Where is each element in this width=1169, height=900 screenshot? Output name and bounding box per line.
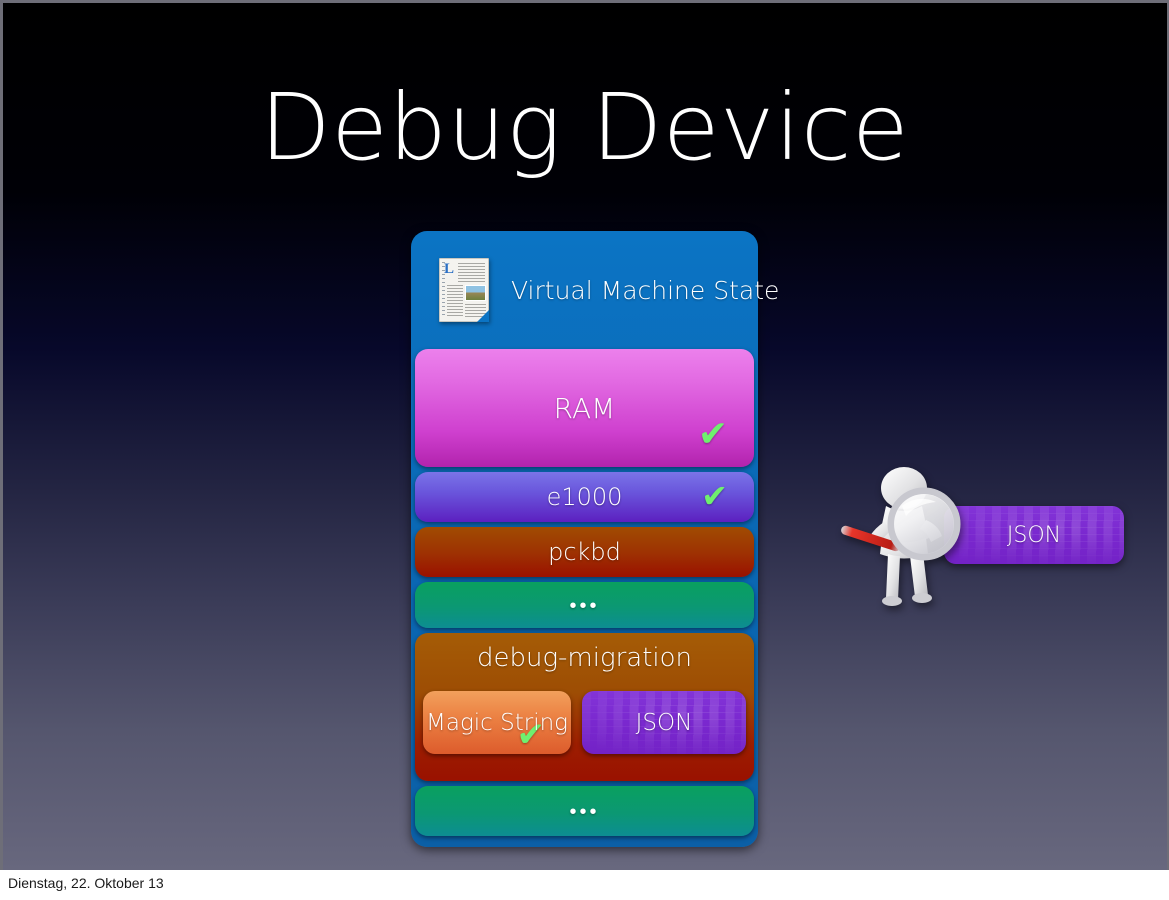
debug-migration-children: Magic String ✔ JSON bbox=[423, 691, 746, 754]
debug-migration-label: debug-migration bbox=[415, 643, 754, 673]
json-badge-label: JSON bbox=[1007, 523, 1061, 548]
stack-row-ram-label: RAM bbox=[554, 392, 616, 425]
slide-canvas: Debug Device L Virtual Machine State bbox=[0, 0, 1169, 870]
stack-row-ram[interactable]: RAM ✔ bbox=[415, 349, 754, 467]
virtual-machine-state-stack: L Virtual Machine State RAM ✔ e1000 ✔ bbox=[411, 231, 758, 847]
json-badge[interactable]: JSON bbox=[944, 506, 1124, 564]
inspector-group: JSON bbox=[838, 462, 1128, 607]
footer-date: Dienstag, 22. Oktober 13 bbox=[8, 875, 164, 891]
stack-row-pckbd-label: pckbd bbox=[548, 538, 621, 566]
chip-json-label: JSON bbox=[636, 710, 693, 736]
check-icon-ram: ✔ bbox=[698, 417, 728, 453]
vm-state-header-label: Virtual Machine State bbox=[511, 276, 779, 305]
slide-footer: Dienstag, 22. Oktober 13 bbox=[0, 870, 1169, 900]
page-title: Debug Device bbox=[0, 82, 1169, 174]
document-icon: L bbox=[439, 258, 489, 322]
stack-row-ellipsis-lower-label: ••• bbox=[569, 799, 599, 824]
stack-row-debug-migration[interactable]: debug-migration Magic String ✔ JSON bbox=[415, 633, 754, 781]
vm-state-header: L Virtual Machine State bbox=[411, 231, 758, 349]
stack-row-e1000[interactable]: e1000 ✔ bbox=[415, 472, 754, 522]
slide-top-border bbox=[0, 0, 1169, 3]
stack-row-ellipsis-upper-label: ••• bbox=[569, 593, 599, 618]
magnifying-glass-figure-icon bbox=[838, 462, 968, 607]
stack-row-e1000-label: e1000 bbox=[547, 483, 623, 511]
stack-row-ellipsis-upper[interactable]: ••• bbox=[415, 582, 754, 628]
stack-row-pckbd[interactable]: pckbd bbox=[415, 527, 754, 577]
chip-json[interactable]: JSON bbox=[582, 691, 746, 754]
slide-root: Debug Device L Virtual Machine State bbox=[0, 0, 1169, 900]
chip-magic-string[interactable]: Magic String ✔ bbox=[423, 691, 571, 754]
chip-magic-string-label: Magic String bbox=[426, 710, 568, 736]
stack-row-ellipsis-lower[interactable]: ••• bbox=[415, 786, 754, 836]
check-icon-e1000: ✔ bbox=[701, 480, 728, 512]
